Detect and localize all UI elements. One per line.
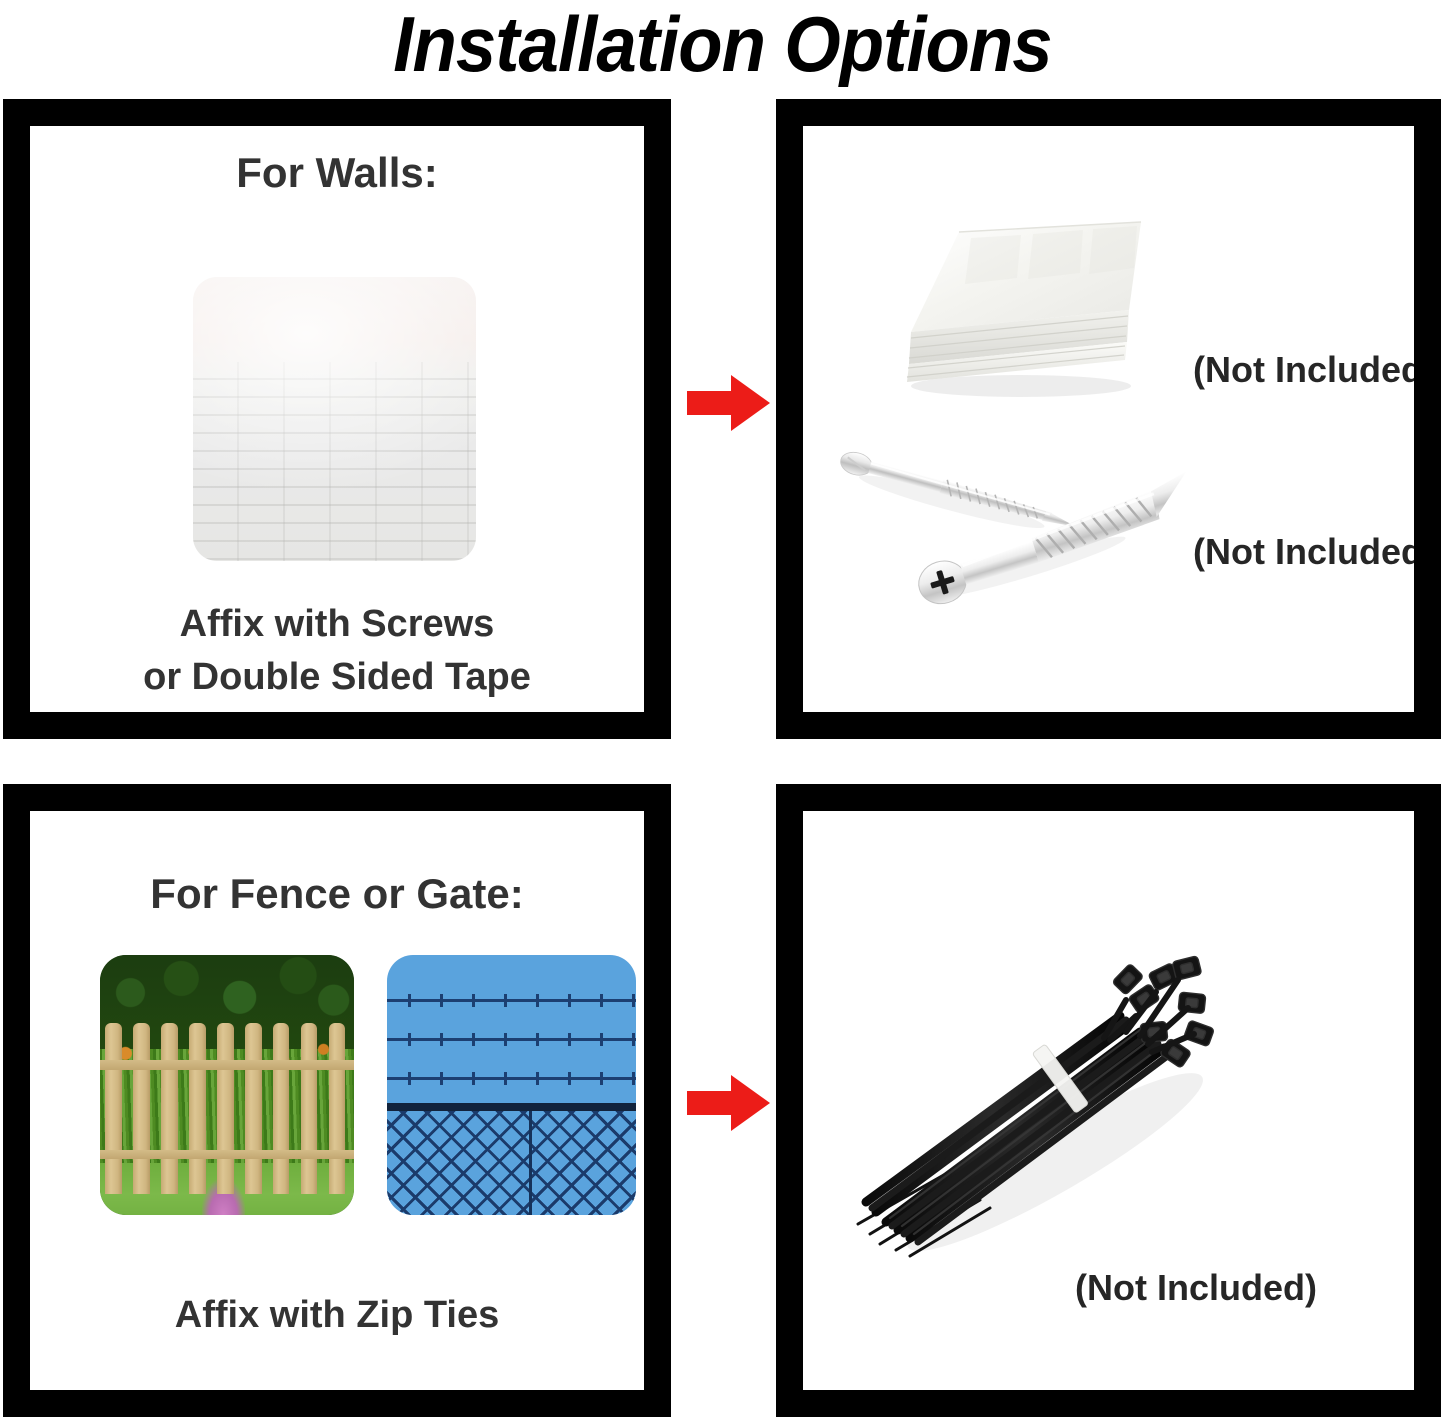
walls-caption-line-1: Affix with Screws (30, 598, 644, 650)
installation-options-infographic: Installation Options For Walls: Affix wi… (0, 0, 1445, 1422)
barbed-wire-strand-3 (387, 1077, 636, 1080)
fence-post (529, 1111, 532, 1215)
double-sided-tape-image (871, 214, 1151, 404)
panel-for-walls: For Walls: Affix with Screws or Double S… (3, 99, 671, 739)
zip-ties-icon (840, 912, 1260, 1272)
panel-for-walls-inner: For Walls: Affix with Screws or Double S… (30, 126, 644, 712)
panel-fence-hardware: (Not Included) (776, 784, 1441, 1417)
panel-wall-hardware-inner: (Not Included) (803, 126, 1414, 712)
screws-not-included-label: (Not Included) (1193, 530, 1414, 574)
walls-caption-line-2: or Double Sided Tape (30, 651, 644, 703)
for-walls-heading: For Walls: (30, 148, 644, 198)
barbed-wire-strand-1 (387, 999, 636, 1002)
wooden-picket-fence-image (100, 955, 354, 1215)
tape-not-included-label: (Not Included) (1193, 348, 1414, 392)
fence-caption: Affix with Zip Ties (30, 1289, 644, 1341)
panel-for-fence-or-gate: For Fence or Gate: (3, 784, 671, 1417)
zip-ties-image (840, 912, 1260, 1272)
page-title: Installation Options (51, 0, 1395, 90)
arrow-right-glyph (687, 373, 771, 433)
panel-wall-hardware: (Not Included) (776, 99, 1441, 739)
panel-for-fence-inner: For Fence or Gate: (30, 811, 644, 1390)
barbed-wire-strand-2 (387, 1038, 636, 1041)
screws-icon (836, 436, 1196, 606)
tape-stack-icon (871, 214, 1151, 404)
photo-sheen (193, 277, 476, 561)
fence-pickets (100, 1023, 354, 1195)
chain-link-mesh (387, 1111, 636, 1215)
screws-image (836, 436, 1196, 606)
arrow-right-icon-top (687, 373, 771, 433)
panel-fence-hardware-inner: (Not Included) (803, 811, 1414, 1390)
for-fence-heading: For Fence or Gate: (30, 869, 644, 919)
chain-link-fence-image (387, 955, 636, 1215)
white-brick-wall-image (193, 277, 476, 561)
zipties-not-included-label: (Not Included) (1075, 1266, 1317, 1310)
arrow-right-icon-bottom (687, 1073, 771, 1133)
arrow-right-glyph (687, 1073, 771, 1133)
